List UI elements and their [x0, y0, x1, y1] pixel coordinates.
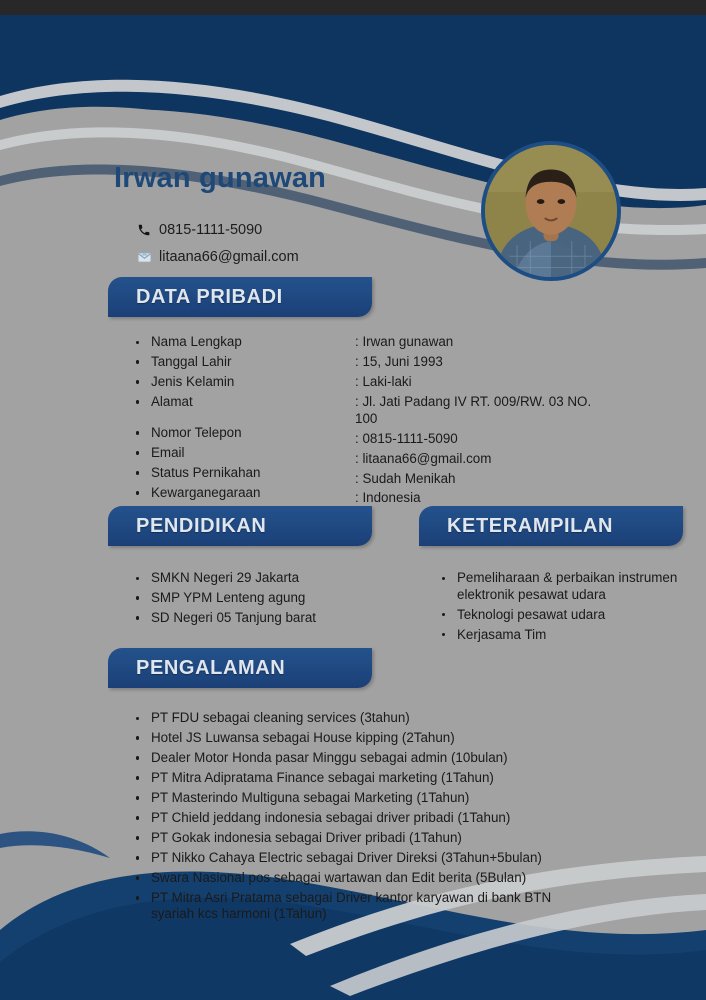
section-header-personal: DATA PRIBADI	[108, 277, 372, 317]
letterbox-top	[0, 0, 706, 15]
page-title: Irwan gunawan	[114, 162, 326, 195]
list-item: Swara Nasional pos sebagai wartawan dan …	[130, 870, 575, 887]
list-item: SMP YPM Lenteng agung	[130, 590, 400, 607]
section-header-experience: PENGALAMAN	[108, 648, 372, 688]
list-item: Dealer Motor Honda pasar Minggu sebagai …	[130, 750, 575, 767]
list-item: Jenis Kelamin	[130, 374, 260, 391]
list-item: PT Gokak indonesia sebagai Driver pribad…	[130, 830, 575, 847]
list-item: SMKN Negeri 29 Jakarta	[130, 570, 400, 587]
list-item: PT FDU sebagai cleaning services (3tahun…	[130, 710, 575, 727]
skills-list: Pemeliharaan & perbaikan instrumen elekt…	[436, 570, 691, 647]
section-title-education: PENDIDIKAN	[136, 515, 266, 538]
list-item: Pemeliharaan & perbaikan instrumen elekt…	[436, 570, 691, 603]
portrait-illustration	[485, 145, 617, 277]
envelope-icon	[137, 250, 159, 265]
personal-values: : Irwan gunawan : 15, Juni 1993 : Laki-l…	[355, 334, 591, 510]
section-title-personal: DATA PRIBADI	[136, 286, 283, 309]
list-item: PT Mitra Adipratama Finance sebagai mark…	[130, 770, 575, 787]
value-item: : Laki-laki	[355, 374, 591, 391]
value-item: : 15, Juni 1993	[355, 354, 591, 371]
education-list: SMKN Negeri 29 Jakarta SMP YPM Lenteng a…	[130, 570, 400, 630]
list-item: PT Mitra Asri Pratama sebagai Driver kan…	[130, 890, 575, 923]
list-item: SD Negeri 05 Tanjung barat	[130, 610, 400, 627]
section-title-skills: KETERAMPILAN	[447, 515, 613, 538]
list-item: Status Pernikahan	[130, 465, 260, 482]
section-title-experience: PENGALAMAN	[136, 657, 285, 680]
value-item: : Sudah Menikah	[355, 471, 591, 488]
list-item: Teknologi pesawat udara	[436, 607, 691, 624]
list-spacer	[130, 414, 260, 425]
personal-labels: Nama Lengkap Tanggal Lahir Jenis Kelamin…	[130, 334, 260, 505]
contact-block: 0815-1111-5090 litaana66@gmail.com	[137, 218, 299, 272]
list-item: PT Nikko Cahaya Electric sebagai Driver …	[130, 850, 575, 867]
list-item: Kewarganegaraan	[130, 485, 260, 502]
list-item: Nama Lengkap	[130, 334, 260, 351]
list-item: Alamat	[130, 394, 260, 411]
list-item: PT Chield jeddang indonesia sebagai driv…	[130, 810, 575, 827]
list-item: Hotel JS Luwansa sebagai House kipping (…	[130, 730, 575, 747]
value-item: : litaana66@gmail.com	[355, 451, 591, 468]
section-header-skills: KETERAMPILAN	[419, 506, 683, 546]
value-item: : 0815-1111-5090	[355, 431, 591, 448]
list-item: Email	[130, 445, 260, 462]
email-text: litaana66@gmail.com	[159, 249, 299, 265]
avatar	[481, 141, 621, 281]
contact-phone[interactable]: 0815-1111-5090	[137, 218, 299, 242]
list-item: Kerjasama Tim	[436, 627, 691, 644]
list-item: Tanggal Lahir	[130, 354, 260, 371]
phone-icon	[137, 223, 159, 237]
phone-text: 0815-1111-5090	[159, 222, 262, 238]
value-item: : Indonesia	[355, 490, 591, 507]
list-item: Nomor Telepon	[130, 425, 260, 442]
cv-page: Irwan gunawan 0815-1111-5090	[0, 0, 706, 1000]
experience-list: PT FDU sebagai cleaning services (3tahun…	[130, 710, 575, 926]
value-item: : Jl. Jati Padang IV RT. 009/RW. 03 NO. …	[355, 394, 591, 427]
list-item: PT Masterindo Multiguna sebagai Marketin…	[130, 790, 575, 807]
section-header-education: PENDIDIKAN	[108, 506, 372, 546]
value-item: : Irwan gunawan	[355, 334, 591, 351]
contact-email[interactable]: litaana66@gmail.com	[137, 245, 299, 269]
